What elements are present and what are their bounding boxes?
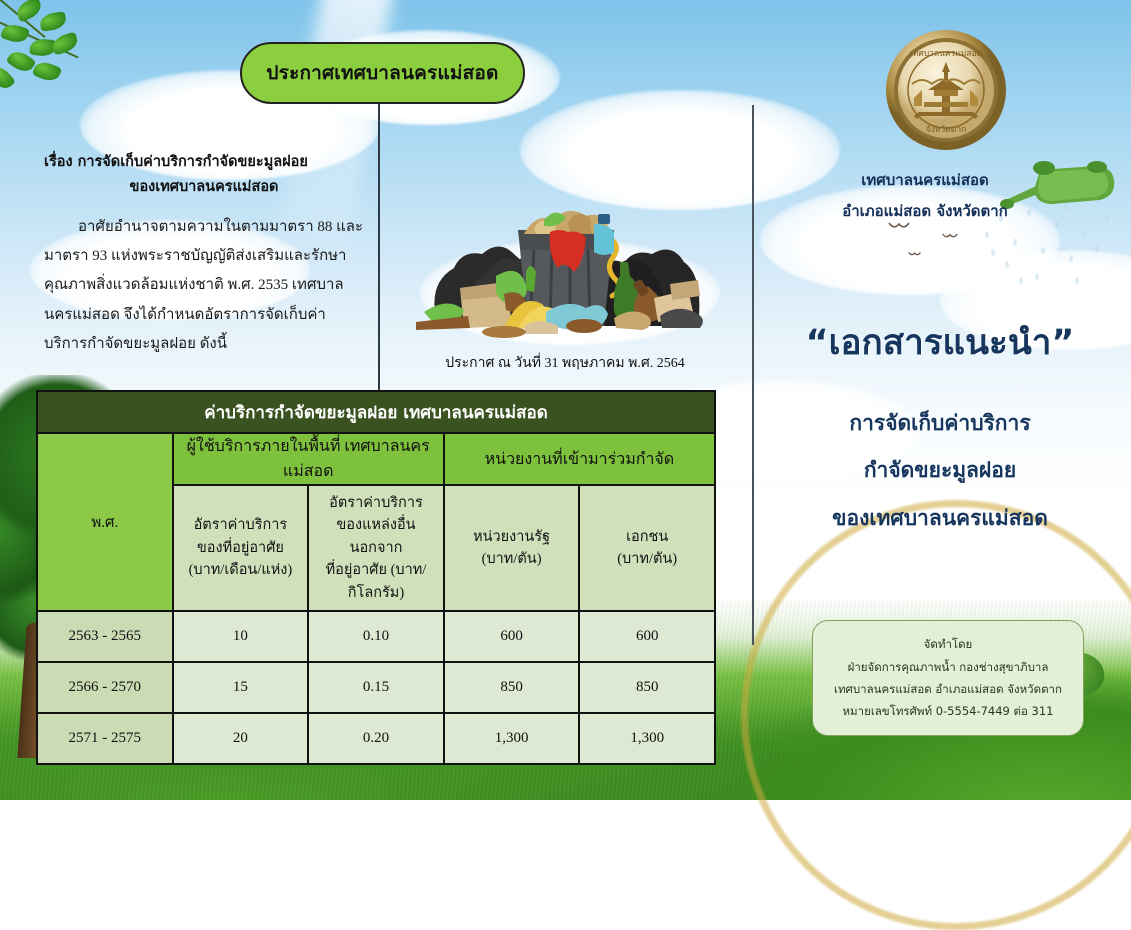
- cell-residential: 20: [173, 713, 309, 764]
- fee-rate-table: ค่าบริการกำจัดขยะมูลฝอย เทศบาลนครแม่สอด …: [36, 390, 716, 765]
- brochure-headline: “เอกสารแนะนำ”: [770, 315, 1110, 370]
- panel-divider: [752, 105, 754, 645]
- contact-line-2: ฝ่ายจัดการคุณภาพน้ำ กองช่างสุขาภิบาล: [848, 656, 1049, 678]
- bird-icon: [908, 250, 921, 259]
- organization-heading: เทศบาลนครแม่สอด อำเภอแม่สอด จังหวัดตาก: [770, 165, 1080, 227]
- sub-header-other-sources: อัตราค่าบริการ ของแหล่งอื่น นอกจาก ที่อย…: [308, 485, 444, 611]
- contact-line-3: เทศบาลนครแม่สอด อำเภอแม่สอด จังหวัดตาก: [834, 678, 1062, 700]
- org-name: เทศบาลนครแม่สอด: [770, 165, 1080, 196]
- municipal-seal-icon: เทศบาลนครแม่สอด จังหวัดตาก: [884, 28, 1008, 152]
- svg-text:จังหวัดตาก: จังหวัดตาก: [926, 125, 966, 135]
- sub-header-private: เอกชน (บาท/ตัน): [579, 485, 715, 611]
- contact-line-1: จัดทำโดย: [924, 633, 973, 655]
- garbage-illustration: [408, 176, 724, 346]
- subtitle-line-2: กำจัดขยะมูลฝอย: [770, 447, 1110, 494]
- group-header-internal: ผู้ใช้บริการภายในพื้นที่ เทศบาลนครแม่สอด: [173, 433, 444, 485]
- announcement-title-text: ประกาศเทศบาลนครแม่สอด: [266, 58, 498, 88]
- bird-icon: [942, 232, 958, 241]
- subject-line-2: ของเทศบาลนครแม่สอด: [44, 175, 364, 200]
- sub-header-line: (บาท/ตัน): [583, 548, 711, 570]
- announcement-title-pill: ประกาศเทศบาลนครแม่สอด: [240, 42, 525, 104]
- subject-heading: เรื่อง การจัดเก็บค่าบริการกำจัดขยะมูลฝอย…: [44, 150, 364, 201]
- table-row: 2571 - 2575 20 0.20 1,300 1,300: [37, 713, 715, 764]
- table-row: 2566 - 2570 15 0.15 850 850: [37, 662, 715, 713]
- sub-header-line: ที่อยู่อาศัย (บาท/กิโลกรัม): [312, 559, 440, 604]
- leaf-sprig-icon: [0, 0, 140, 135]
- sub-header-line: ของแหล่งอื่น นอกจาก: [312, 514, 440, 559]
- cell-private: 600: [579, 611, 715, 662]
- title-connector-line: [378, 104, 380, 404]
- subject-line-1: เรื่อง การจัดเก็บค่าบริการกำจัดขยะมูลฝอย: [44, 150, 364, 175]
- sub-header-line: ของที่อยู่อาศัย: [177, 537, 305, 559]
- cell-government: 850: [444, 662, 580, 713]
- cell-year: 2571 - 2575: [37, 713, 173, 764]
- announcement-date-caption: ประกาศ ณ วันที่ 31 พฤษภาคม พ.ศ. 2564: [400, 352, 730, 374]
- subtitle-line-3: ของเทศบาลนครแม่สอด: [770, 495, 1110, 542]
- announcement-body-text: อาศัยอำนาจตามความในตามมาตรา 88 และมาตรา …: [44, 219, 363, 352]
- column-header-year: พ.ศ.: [37, 433, 173, 611]
- sub-header-line: (บาท/เดือน/แห่ง): [177, 559, 305, 581]
- sub-header-line: อัตราค่าบริการ: [177, 514, 305, 536]
- cell-year: 2563 - 2565: [37, 611, 173, 662]
- sub-header-residential: อัตราค่าบริการ ของที่อยู่อาศัย (บาท/เดือ…: [173, 485, 309, 611]
- table-title-row: ค่าบริการกำจัดขยะมูลฝอย เทศบาลนครแม่สอด: [37, 391, 715, 433]
- svg-text:เทศบาลนครแม่สอด: เทศบาลนครแม่สอด: [910, 49, 982, 59]
- cell-residential: 10: [173, 611, 309, 662]
- table-title: ค่าบริการกำจัดขยะมูลฝอย เทศบาลนครแม่สอด: [37, 391, 715, 433]
- cell-private: 1,300: [579, 713, 715, 764]
- group-header-external: หน่วยงานที่เข้ามาร่วมกำจัด: [444, 433, 715, 485]
- contact-info-box: จัดทำโดย ฝ่ายจัดการคุณภาพน้ำ กองช่างสุขา…: [812, 620, 1084, 736]
- subtitle-line-1: การจัดเก็บค่าบริการ: [770, 400, 1110, 447]
- sub-header-line: อัตราค่าบริการ: [312, 492, 440, 514]
- announcement-text-block: เรื่อง การจัดเก็บค่าบริการกำจัดขยะมูลฝอย…: [44, 150, 364, 359]
- brochure-subtitle: การจัดเก็บค่าบริการ กำจัดขยะมูลฝอย ของเท…: [770, 400, 1110, 542]
- cell-other: 0.10: [308, 611, 444, 662]
- cell-residential: 15: [173, 662, 309, 713]
- sub-header-line: หน่วยงานรัฐ: [448, 526, 576, 548]
- cell-government: 600: [444, 611, 580, 662]
- sub-header-line: เอกชน: [583, 526, 711, 548]
- cell-private: 850: [579, 662, 715, 713]
- cell-other: 0.15: [308, 662, 444, 713]
- table-row: 2563 - 2565 10 0.10 600 600: [37, 611, 715, 662]
- sub-header-government: หน่วยงานรัฐ (บาท/ตัน): [444, 485, 580, 611]
- cell-other: 0.20: [308, 713, 444, 764]
- org-location: อำเภอแม่สอด จังหวัดตาก: [770, 196, 1080, 227]
- cell-year: 2566 - 2570: [37, 662, 173, 713]
- cell-government: 1,300: [444, 713, 580, 764]
- sub-header-line: (บาท/ตัน): [448, 548, 576, 570]
- contact-line-4: หมายเลขโทรศัพท์ 0-5554-7449 ต่อ 311: [842, 700, 1053, 722]
- announcement-body: อาศัยอำนาจตามความในตามมาตรา 88 และมาตรา …: [44, 213, 364, 359]
- table-group-header-row: พ.ศ. ผู้ใช้บริการภายในพื้นที่ เทศบาลนครแ…: [37, 433, 715, 485]
